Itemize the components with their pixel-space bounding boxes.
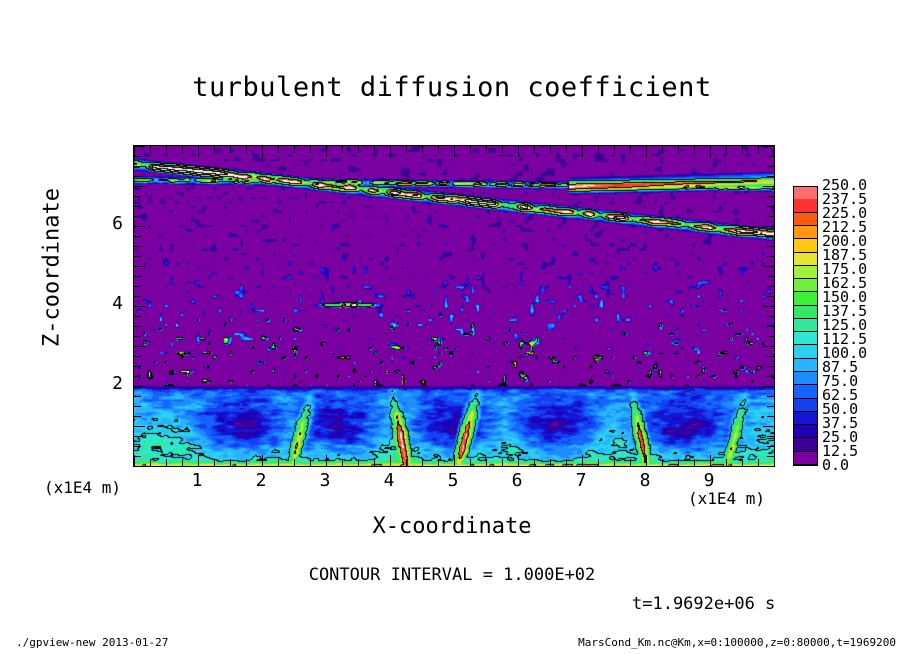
x-axis-tick [694,146,695,153]
colorbar-swatch [794,279,817,292]
x-axis-tick [454,455,455,466]
colorbar-tick-label: 62.5 [822,388,858,403]
y-axis-tick [767,356,774,357]
colorbar-tick-label: 12.5 [822,444,858,459]
y-axis-tick [767,206,774,207]
colorbar-tick-label: 200.0 [822,234,867,249]
colorbar-swatch [794,253,817,266]
x-axis-tick [518,455,519,466]
x-axis-tick [598,459,599,466]
x-axis-title: X-coordinate [0,514,904,539]
x-axis-tick [742,146,743,153]
y-axis-tick [134,286,141,287]
x-axis-tick [182,459,183,466]
x-axis-tick [310,459,311,466]
y-axis-tick [767,336,774,337]
x-axis-tick [630,459,631,466]
y-axis-tick [134,326,141,327]
x-axis-tick [566,459,567,466]
x-axis-tick [454,146,455,157]
x-tick-label: 4 [369,470,409,491]
x-axis-tick [230,459,231,466]
y-axis-tick [767,366,774,367]
x-axis-tick [550,459,551,466]
colorbar-swatch [794,199,817,212]
x-axis-tick [582,146,583,157]
page-title: turbulent diffusion coefficient [0,72,904,103]
x-tick-label: 8 [625,470,665,491]
y-axis-tick [767,446,774,447]
y-axis-tick [763,386,774,387]
colorbar-swatch [794,452,817,465]
x-axis-tick [374,146,375,153]
x-axis-tick [390,455,391,466]
y-axis-tick [767,176,774,177]
y-axis-tick [134,156,141,157]
y-axis-tick [763,186,774,187]
x-axis-tick [614,459,615,466]
colorbar-tick-label: 125.0 [822,318,867,333]
colorbar-tick-label: 100.0 [822,346,867,361]
x-axis-tick [326,146,327,157]
y-axis-title: Z-coordinate [40,158,65,378]
y-axis-tick [763,226,774,227]
y-tick-label: 4 [93,293,123,314]
colorbar-swatch [794,399,817,412]
y-axis-tick [134,376,141,377]
y-axis-tick [134,386,145,387]
y-axis-tick [134,166,141,167]
x-axis-tick [774,455,775,466]
y-axis-tick [134,436,141,437]
x-axis-tick [502,146,503,153]
x-tick-label: 1 [177,470,217,491]
x-axis-tick [726,459,727,466]
x-tick-label: 3 [305,470,345,491]
colorbar-tick-label: 25.0 [822,430,858,445]
colorbar-swatch [794,239,817,252]
colorbar-tick-label: 137.5 [822,304,867,319]
x-axis-tick [294,146,295,153]
x-axis-tick [198,146,199,157]
y-axis-tick [767,456,774,457]
x-axis-tick [646,146,647,157]
x-axis-tick [246,146,247,153]
y-axis-tick [134,206,141,207]
colorbar-swatch [794,359,817,372]
x-axis-tick [438,459,439,466]
y-axis-tick [767,256,774,257]
x-axis-tick [726,146,727,153]
y-axis-tick [134,276,141,277]
colorbar-swatch [794,372,817,385]
x-axis-tick [662,146,663,153]
y-axis-tick [134,446,141,447]
y-axis-tick [134,146,145,147]
y-axis-tick [134,426,145,427]
y-axis-tick [134,336,141,337]
y-axis-tick [134,226,145,227]
x-axis-tick [486,459,487,466]
colorbar-tick-label: 162.5 [822,276,867,291]
y-axis-tick [134,466,145,467]
x-axis-tick [470,459,471,466]
y-axis-tick [767,246,774,247]
x-axis-tick [262,146,263,157]
y-axis-tick [763,306,774,307]
colorbar-swatch [794,319,817,332]
x-tick-label: 5 [433,470,473,491]
x-axis-tick [150,459,151,466]
x-axis-tick [534,459,535,466]
x-axis-tick [294,459,295,466]
x-axis-tick [358,146,359,153]
colorbar-swatch [794,266,817,279]
colorbar-tick-label: 175.0 [822,262,867,277]
y-axis-tick [134,406,141,407]
x-axis-tick [182,146,183,153]
y-axis-tick [134,346,145,347]
colorbar-swatch [794,385,817,398]
x-axis-tick [166,459,167,466]
y-axis-tick [134,296,141,297]
x-tick-label: 9 [689,470,729,491]
x-axis-tick [422,459,423,466]
y-axis-tick [134,246,141,247]
x-axis-tick [214,146,215,153]
x-axis-tick [630,146,631,153]
x-axis-tick [198,455,199,466]
x-axis-tick [310,146,311,153]
x-axis-tick [678,146,679,153]
colorbar-tick-label: 50.0 [822,402,858,417]
colorbar-tick-label: 0.0 [822,458,849,473]
colorbar [793,186,818,466]
y-axis-tick [767,286,774,287]
contour-field-canvas [134,146,774,466]
colorbar-swatch [794,438,817,451]
colorbar-swatch [794,332,817,345]
y-axis-tick [134,216,141,217]
y-axis-tick [767,296,774,297]
x-axis-tick [694,459,695,466]
time-note: t=1.9692e+06 s [632,594,775,614]
x-axis-tick [166,146,167,153]
x-axis-tick [678,459,679,466]
colorbar-tick-label: 250.0 [822,178,867,193]
colorbar-swatch [794,306,817,319]
x-axis-tick [550,146,551,153]
x-axis-tick [566,146,567,153]
y-axis-tick [767,166,774,167]
plot-area [133,145,775,467]
y-axis-tick [767,316,774,317]
x-axis-tick [150,146,151,153]
y-tick-label: 2 [93,373,123,394]
y-axis-tick [767,196,774,197]
y-axis-unit-label: (x1E4 m) [44,478,121,497]
x-tick-label: 7 [561,470,601,491]
x-axis-tick [502,459,503,466]
y-axis-tick [767,376,774,377]
colorbar-swatch [794,412,817,425]
colorbar-tick-label: 187.5 [822,248,867,263]
y-axis-tick [134,266,145,267]
x-tick-label: 6 [497,470,537,491]
x-axis-tick [326,455,327,466]
y-axis-tick [134,366,141,367]
y-axis-tick [134,456,141,457]
y-axis-tick [767,216,774,217]
colorbar-labels: 0.012.525.037.550.062.575.087.5100.0112.… [822,186,892,466]
colorbar-tick-label: 225.0 [822,206,867,221]
y-axis-tick [763,266,774,267]
x-axis-tick [758,146,759,153]
y-axis-tick [763,146,774,147]
x-axis-tick [710,455,711,466]
colorbar-tick-label: 75.0 [822,374,858,389]
x-axis-tick [278,146,279,153]
y-axis-tick [763,426,774,427]
x-axis-tick [758,459,759,466]
x-axis-tick [246,459,247,466]
x-axis-tick [534,146,535,153]
colorbar-tick-label: 112.5 [822,332,867,347]
y-axis-tick [134,416,141,417]
x-axis-tick [230,146,231,153]
y-axis-tick [134,196,141,197]
x-axis-tick [582,455,583,466]
x-axis-tick [390,146,391,157]
x-tick-label: 2 [241,470,281,491]
colorbar-swatch [794,292,817,305]
y-axis-tick [134,236,141,237]
x-axis-tick [374,459,375,466]
colorbar-swatch [794,345,817,358]
contour-interval-note: CONTOUR INTERVAL = 1.000E+02 [0,565,904,585]
footer-dataset-label: MarsCond_Km.nc@Km,x=0:100000,z=0:80000,t… [578,636,896,649]
y-axis-tick [767,236,774,237]
x-axis-tick [214,459,215,466]
x-axis-tick [342,146,343,153]
y-axis-tick [767,326,774,327]
x-axis-tick [470,146,471,153]
y-axis-tick [134,356,141,357]
y-axis-tick [767,416,774,417]
y-axis-tick [134,396,141,397]
x-axis-tick [438,146,439,153]
y-axis-tick [767,156,774,157]
x-axis-tick [422,146,423,153]
y-axis-tick [767,396,774,397]
x-axis-tick [358,459,359,466]
y-axis-tick [134,176,141,177]
x-axis-tick [486,146,487,153]
colorbar-tick-label: 212.5 [822,220,867,235]
x-axis-tick [406,459,407,466]
y-axis-tick [767,436,774,437]
x-axis-tick [342,459,343,466]
colorbar-tick-label: 37.5 [822,416,858,431]
x-axis-tick [662,459,663,466]
colorbar-swatch [794,213,817,226]
x-axis-tick [278,459,279,466]
x-axis-tick [406,146,407,153]
colorbar-swatch [794,425,817,438]
x-axis-tick [646,455,647,466]
colorbar-tick-label: 150.0 [822,290,867,305]
y-axis-tick [134,306,145,307]
x-axis-tick [262,455,263,466]
x-axis-tick [710,146,711,157]
colorbar-swatch [794,187,817,199]
y-axis-tick [134,186,145,187]
x-axis-tick [742,459,743,466]
x-axis-tick [598,146,599,153]
footer-command-label: ./gpview-new 2013-01-27 [16,636,168,649]
y-axis-tick [767,406,774,407]
y-axis-tick [134,256,141,257]
y-axis-tick [763,466,774,467]
x-axis-tick [614,146,615,153]
colorbar-tick-label: 237.5 [822,192,867,207]
x-axis-unit-label: (x1E4 m) [688,489,765,508]
colorbar-tick-label: 87.5 [822,360,858,375]
y-axis-tick [763,346,774,347]
x-axis-tick [774,146,775,157]
x-axis-tick [518,146,519,157]
colorbar-swatch [794,226,817,239]
y-axis-tick [767,276,774,277]
y-tick-label: 6 [93,213,123,234]
y-axis-tick [134,316,141,317]
